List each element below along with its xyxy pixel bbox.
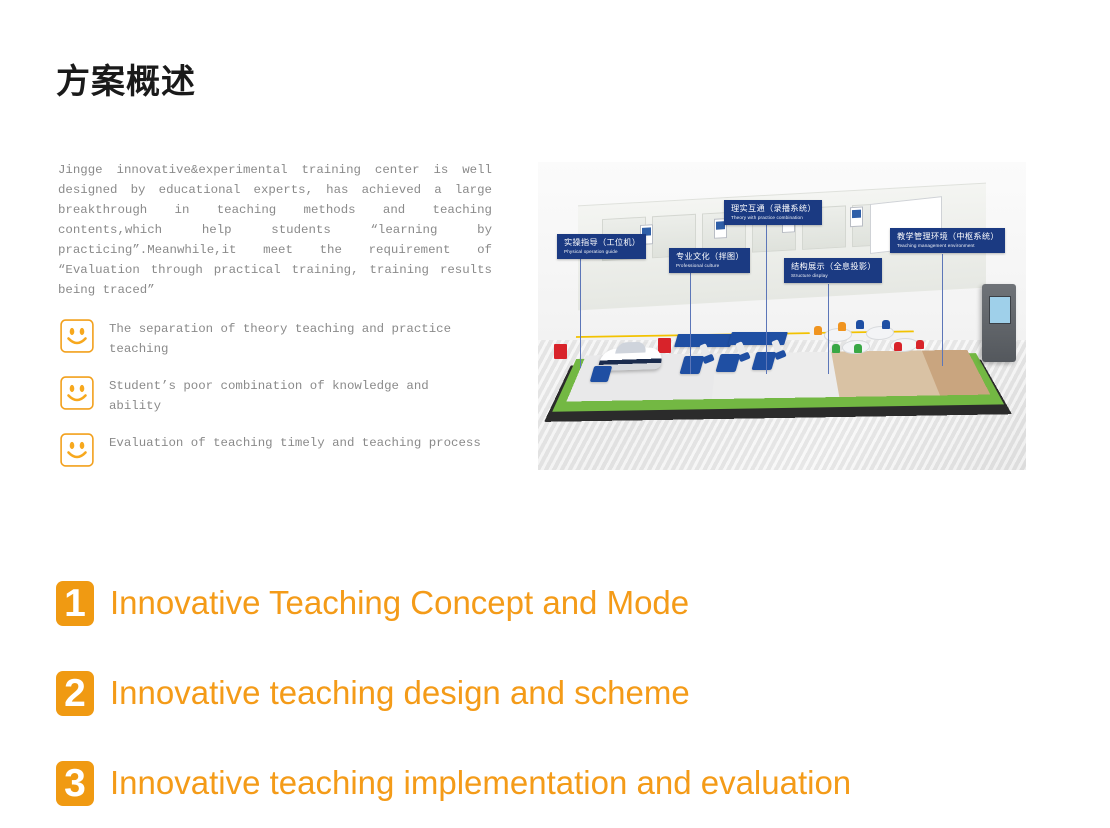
callout-label-cn: 实操指导（工位机） [564, 238, 640, 248]
classroom-stool [838, 322, 846, 331]
classroom-stool [882, 320, 890, 329]
numbered-topic-list: 1 Innovative Teaching Concept and Mode 2… [56, 558, 1056, 828]
classroom-stool [894, 342, 902, 351]
callout-label-en: Structure display [791, 272, 876, 279]
wall-poster [850, 206, 863, 227]
number-badge: 3 [56, 761, 94, 806]
smiley-icon [60, 376, 94, 410]
classroom-stool [916, 340, 924, 349]
training-center-illustration: 实操指导（工位机） Physical operation guide 专业文化（… [538, 162, 1026, 470]
discussion-table [865, 326, 896, 340]
callout-teaching-management-environment: 教学管理环境（中枢系统） Teaching management environ… [890, 228, 1005, 253]
callout-label-en: Teaching management environment [897, 242, 999, 249]
callout-label-cn: 专业文化（拌图） [676, 252, 744, 262]
classroom-stool [832, 344, 840, 353]
central-control-cabinet [982, 284, 1016, 362]
numbered-item-label: Innovative teaching design and scheme [110, 674, 690, 712]
callout-label-en: Theory with practice combination [731, 214, 816, 221]
callout-physical-operation-guide: 实操指导（工位机） Physical operation guide [557, 234, 646, 259]
callout-label-cn: 理实互通（录播系统） [731, 204, 816, 214]
number-badge: 2 [56, 671, 94, 716]
callout-label-en: Professional culture [676, 262, 744, 269]
training-center-room [542, 282, 1022, 427]
intro-paragraph: Jingge innovative&experimental training … [58, 160, 492, 300]
leader-line [942, 254, 943, 366]
callout-structure-display: 结构展示（全息投影） Structure display [784, 258, 882, 283]
smiley-icon [60, 319, 94, 353]
callout-label-cn: 结构展示（全息投影） [791, 262, 876, 272]
list-item: Student’s poor combination of knowledge … [60, 375, 500, 416]
fire-cabinet [554, 344, 567, 359]
classroom-stool [854, 344, 862, 353]
callout-label-en: Physical operation guide [564, 248, 640, 255]
callout-label-cn: 教学管理环境（中枢系统） [897, 232, 999, 242]
number-badge: 1 [56, 581, 94, 626]
list-item[interactable]: 1 Innovative Teaching Concept and Mode [56, 558, 1056, 648]
classroom-stool [814, 326, 822, 335]
leader-line [690, 272, 691, 374]
leader-line [828, 284, 829, 374]
list-item-label: Student’s poor combination of knowledge … [109, 375, 487, 416]
numbered-item-label: Innovative Teaching Concept and Mode [110, 584, 689, 622]
callout-professional-culture: 专业文化（拌图） Professional culture [669, 248, 750, 273]
leader-line [766, 224, 767, 374]
list-item-label: The separation of theory teaching and pr… [109, 318, 487, 359]
list-item[interactable]: 2 Innovative teaching design and scheme [56, 648, 1056, 738]
list-item-label: Evaluation of teaching timely and teachi… [109, 432, 487, 453]
problem-bullet-list: The separation of theory teaching and pr… [60, 318, 500, 483]
smiley-icon [60, 433, 94, 467]
callout-theory-practice-combination: 理实互通（录播系统） Theory with practice combinat… [724, 200, 822, 225]
page-title: 方案概述 [56, 62, 196, 103]
list-item: Evaluation of teaching timely and teachi… [60, 432, 500, 467]
leader-line [580, 258, 581, 368]
numbered-item-label: Innovative teaching implementation and e… [110, 764, 851, 802]
fire-cabinet [658, 338, 671, 353]
list-item[interactable]: 3 Innovative teaching implementation and… [56, 738, 1056, 828]
list-item: The separation of theory teaching and pr… [60, 318, 500, 359]
classroom-stool [856, 320, 864, 329]
